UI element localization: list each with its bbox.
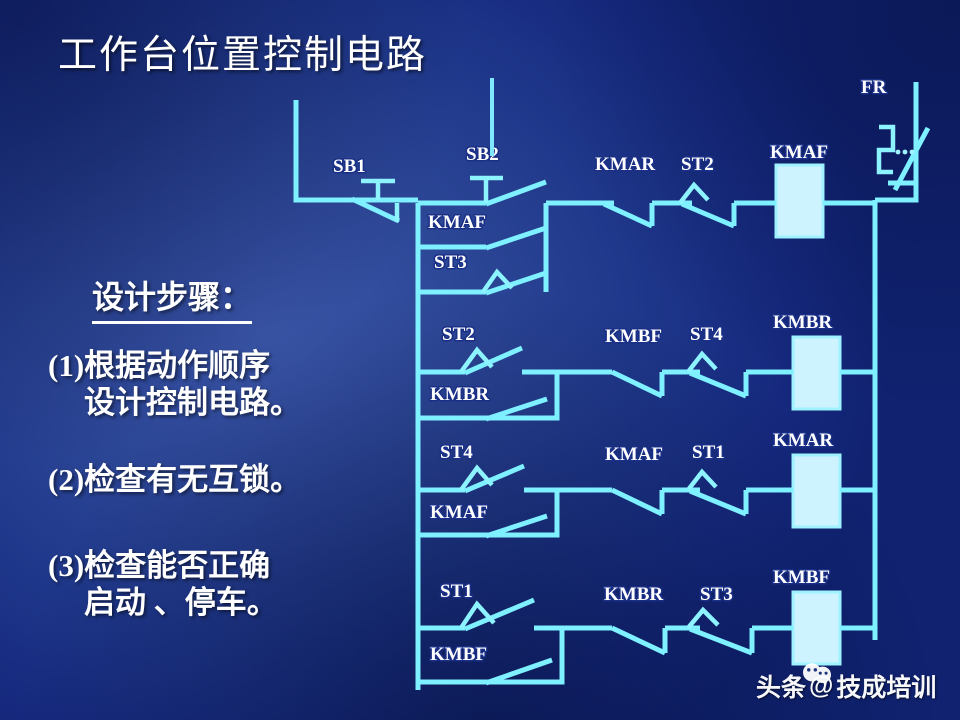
coil-kmbf[interactable]: KMBF	[773, 567, 875, 664]
watermark-platform: 头条	[756, 668, 806, 704]
contact-st1-no-limit[interactable]: ST1	[418, 581, 534, 629]
watermark: 头条 @ 技成培训	[756, 668, 936, 704]
kmbr-contact-label: KMBR	[604, 584, 663, 605]
design-step-3: (3)检查能否正确启动 、停车。	[48, 548, 278, 621]
contact-st3-nc-limit[interactable]: ST3	[688, 584, 793, 653]
kmbf-coil-label: KMBF	[773, 567, 830, 588]
contact-kmbr-nc[interactable]: KMBR	[604, 584, 690, 653]
contact-st1-nc-limit[interactable]: ST1	[688, 442, 793, 514]
contact-kmbf-no-latch[interactable]: KMBF	[418, 628, 562, 683]
coil-kmar[interactable]: KMAR	[773, 430, 875, 527]
design-step-2-number: (2)	[48, 462, 84, 497]
st2-contact-label: ST2	[681, 154, 714, 175]
contact-kmaf-no-latch[interactable]: KMAF	[418, 203, 546, 248]
st2-branch-label: ST2	[442, 324, 475, 345]
contact-st4-no-limit[interactable]: ST4	[418, 442, 524, 491]
sb1-label: SB1	[333, 156, 366, 177]
st3-label: ST3	[434, 252, 467, 273]
design-step-3-number: (3)	[48, 548, 84, 583]
design-step-3-line2: 启动 、停车。	[84, 585, 278, 622]
watermark-bird-icon	[800, 660, 834, 688]
contact-sb2-no-pushbutton[interactable]: SB2	[418, 144, 604, 204]
kmar-coil-label: KMAR	[773, 430, 833, 451]
kmbr-latch-label: KMBR	[430, 384, 489, 405]
contact-st2-no-limit[interactable]: ST2	[418, 324, 522, 373]
contact-st4-nc-limit[interactable]: ST4	[688, 324, 793, 396]
contact-sb1-nc-pushbutton[interactable]: SB1	[333, 156, 418, 222]
contact-kmar-nc[interactable]: KMAR	[595, 154, 682, 226]
design-steps-heading: 设计步骤：	[92, 272, 252, 324]
design-step-3-line1: 检查能否正确	[84, 548, 270, 583]
kmbr-coil-label: KMBR	[773, 312, 832, 333]
design-step-2-line1: 检查有无互锁。	[84, 462, 301, 497]
page-title: 工作台位置控制电路	[58, 24, 427, 80]
kmaf-latch-label: KMAF	[428, 212, 486, 233]
design-step-1: (1)根据动作顺序设计控制电路。	[48, 348, 301, 421]
contact-st3-no-limit[interactable]: ST3	[418, 247, 546, 293]
kmaf-latch-2-label: KMAF	[430, 502, 488, 523]
kmaf-coil-label: KMAF	[770, 142, 828, 163]
kmaf-contact-label: KMAF	[605, 444, 663, 465]
fr-label: FR	[861, 77, 887, 98]
st1-contact-label: ST1	[692, 442, 725, 463]
st4-contact-label: ST4	[690, 324, 723, 345]
contact-kmbf-nc[interactable]: KMBF	[605, 326, 690, 396]
design-step-1-line1: 根据动作顺序	[84, 348, 270, 383]
contact-kmaf-no-latch-2[interactable]: KMAF	[418, 490, 557, 536]
kmbf-latch-label: KMBF	[430, 644, 487, 665]
st1-branch-label: ST1	[440, 581, 473, 602]
st4-branch-label: ST4	[440, 442, 473, 463]
design-step-1-line2: 设计控制电路。	[84, 385, 301, 422]
design-step-1-number: (1)	[48, 348, 84, 383]
kmbf-contact-label: KMBF	[605, 326, 662, 347]
kmar-contact-label: KMAR	[595, 154, 655, 175]
contact-kmaf-nc[interactable]: KMAF	[605, 444, 690, 514]
coil-kmbr[interactable]: KMBR	[773, 312, 875, 409]
contact-kmbr-no-latch[interactable]: KMBR	[418, 372, 557, 419]
fr-thermal-relay[interactable]: FR	[861, 77, 928, 200]
left-supply-rail	[296, 100, 418, 690]
design-step-2: (2)检查有无互锁。	[48, 462, 301, 499]
st3-contact-label: ST3	[700, 584, 733, 605]
slide-canvas: 工作台位置控制电路 设计步骤： (1)根据动作顺序设计控制电路。 (2)检查有无…	[0, 0, 960, 720]
coil-kmaf[interactable]: KMAF	[758, 142, 875, 237]
watermark-account: 技成培训	[836, 668, 936, 704]
title-accent-bar	[490, 78, 494, 156]
